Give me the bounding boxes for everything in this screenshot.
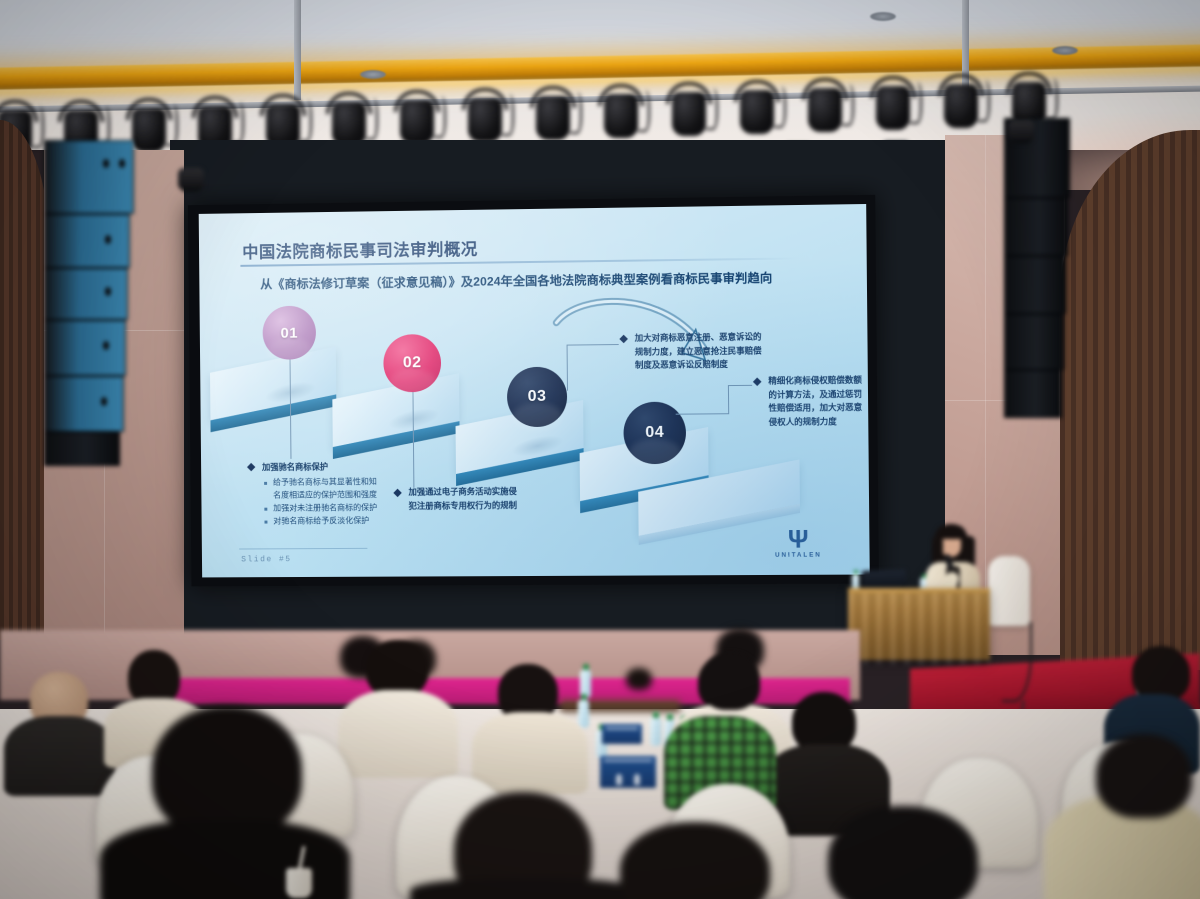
ceiling-downlight xyxy=(1052,46,1078,55)
presenter-table xyxy=(848,588,990,660)
callout-03-text: 加大对商标恶意注册、恶意诉讼的 规制力度，建立恶意抢注民事赔偿 制度及恶意诉讼反… xyxy=(635,330,762,372)
par-can-light-left xyxy=(178,168,204,190)
callout-03-bullet-icon xyxy=(619,335,628,344)
callout-04-text: 精细化商标侵权赔偿数额 的计算方法，及通过惩罚 性赔偿适用，加大对恶意 侵权人的… xyxy=(768,374,862,430)
ceiling-downlight xyxy=(360,70,386,79)
water-bottle xyxy=(578,700,589,728)
callout-02-text: 加强通过电子商务活动实施侵 犯注册商标专用权行为的规制 xyxy=(408,485,517,513)
projection-screen-bezel: 中国法院商标民事司法审判概况 从《商标法修订草案（征求意见稿）》及2024年全国… xyxy=(188,195,879,587)
unitalen-logo: Ψ UNITALEN xyxy=(770,528,827,559)
audience-head xyxy=(626,668,652,690)
callout-01: 加强驰名商标保护 给予驰名商标与其显著性和知 名度相适应的保护范围和强度 加强对… xyxy=(248,460,377,528)
stage-chair xyxy=(988,556,1030,626)
audience-shoulders-front xyxy=(100,820,350,899)
audience-shoulders xyxy=(472,712,588,794)
callout-01-heading: 加强驰名商标保护 xyxy=(262,460,377,473)
wall-wood-slat-right xyxy=(1060,130,1200,670)
water-bottle xyxy=(650,718,661,746)
slide-footer: Slide #5 xyxy=(241,555,291,564)
audience-head-front xyxy=(152,706,302,838)
callout-01-item: 加强对未注册驰名商标的保护 xyxy=(262,501,377,515)
callout-02-bullet-icon xyxy=(393,489,401,497)
callout-01-item: 给予驰名商标与其显著性和知 名度相适应的保护范围和强度 xyxy=(262,475,377,502)
audience-head-front xyxy=(828,806,978,899)
callout-04-bullet-icon xyxy=(753,377,762,386)
audience-head-front xyxy=(1096,734,1192,818)
wall-wood-slat-left xyxy=(0,120,50,640)
audience-head xyxy=(700,652,760,710)
unitalen-logo-mark: Ψ xyxy=(770,528,827,551)
step-bubble-4[interactable]: 04 xyxy=(623,402,686,465)
drink-cup xyxy=(286,868,312,898)
callout-01-item: 对驰名商标给予反淡化保护 xyxy=(262,514,377,528)
unitalen-logo-name: UNITALEN xyxy=(770,552,827,559)
callout-03: 加大对商标恶意注册、恶意诉讼的 规制力度，建立恶意抢注民事赔偿 制度及恶意诉讼反… xyxy=(621,330,762,373)
callout-01-bullet-icon xyxy=(247,463,255,471)
step-slab-end xyxy=(638,475,800,520)
audience-shoulders xyxy=(4,716,116,796)
line-array-speaker-left xyxy=(44,140,134,500)
ceiling-strut xyxy=(294,0,301,100)
table-placard xyxy=(600,756,656,788)
line-array-speaker-right xyxy=(1004,118,1076,418)
step-bubble-1[interactable]: 01 xyxy=(262,306,316,360)
audience-shoulders-front xyxy=(410,878,640,899)
callout-02: 加强通过电子商务活动实施侵 犯注册商标专用权行为的规制 xyxy=(395,485,518,513)
callout-04: 精细化商标侵权赔偿数额 的计算方法，及通过惩罚 性赔偿适用，加大对恶意 侵权人的… xyxy=(754,374,862,430)
par-can-light-right xyxy=(1008,120,1034,142)
step-bubble-2[interactable]: 02 xyxy=(383,334,441,392)
ceiling-downlight xyxy=(870,12,896,21)
projection-screen: 中国法院商标民事司法审判概况 从《商标法修订草案（征求意见稿）》及2024年全国… xyxy=(199,204,870,577)
audience-shoulders xyxy=(338,690,458,778)
conference-hall-photo: 中国法院商标民事司法审判概况 从《商标法修订草案（征求意见稿）》及2024年全国… xyxy=(0,0,1200,899)
table-placard-small xyxy=(602,724,642,744)
audience-filler xyxy=(364,660,372,668)
audience-filler xyxy=(700,654,704,658)
